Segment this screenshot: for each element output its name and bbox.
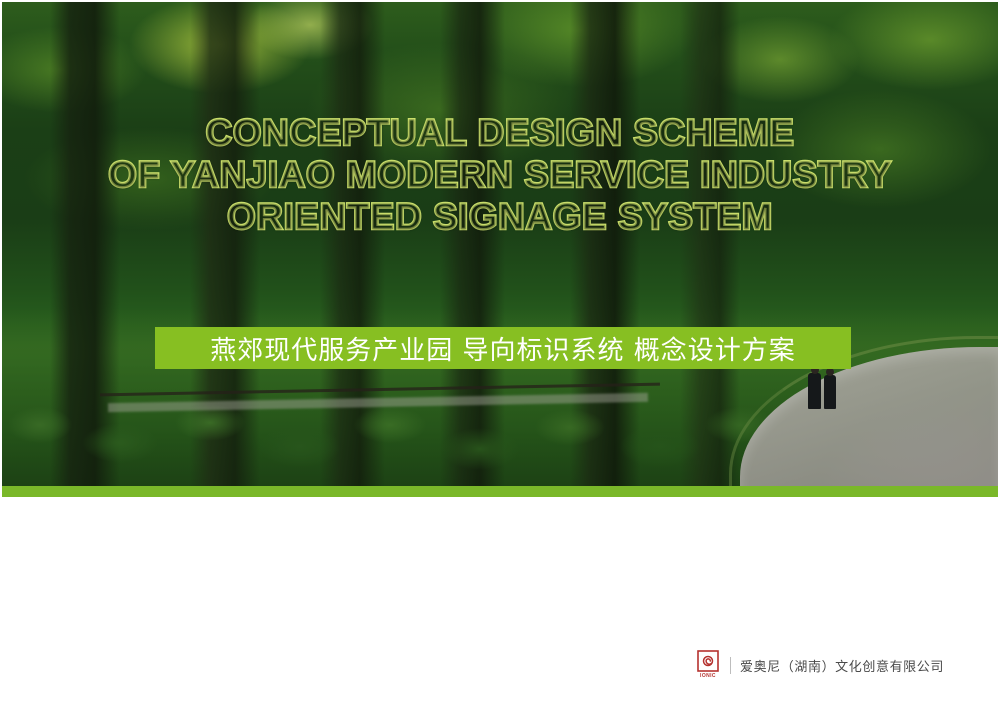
pedestrian-figure <box>824 375 836 409</box>
subtitle-text: 燕郊现代服务产业园 导向标识系统 概念设计方案 <box>210 330 796 367</box>
ionic-logo: IONIC <box>695 650 721 680</box>
footer-divider <box>730 657 731 674</box>
presentation-slide: CONCEPTUAL DESIGN SCHEME OF YANJIAO MODE… <box>0 0 1000 707</box>
hero-image-region: CONCEPTUAL DESIGN SCHEME OF YANJIAO MODE… <box>0 0 1000 497</box>
pedestrian-head <box>826 368 834 376</box>
lower-white-area: IONIC 爱奥尼（湖南）文化创意有限公司 <box>0 497 1000 707</box>
footer-credit: IONIC 爱奥尼（湖南）文化创意有限公司 <box>695 650 944 680</box>
ionic-wordmark: IONIC <box>700 673 716 679</box>
spiral-square-icon <box>697 650 719 672</box>
pedestrian-figure <box>808 373 821 409</box>
company-name: 爱奥尼（湖南）文化创意有限公司 <box>740 656 944 675</box>
green-accent-bar <box>0 486 1000 497</box>
subtitle-banner: 燕郊现代服务产业园 导向标识系统 概念设计方案 <box>155 327 851 369</box>
